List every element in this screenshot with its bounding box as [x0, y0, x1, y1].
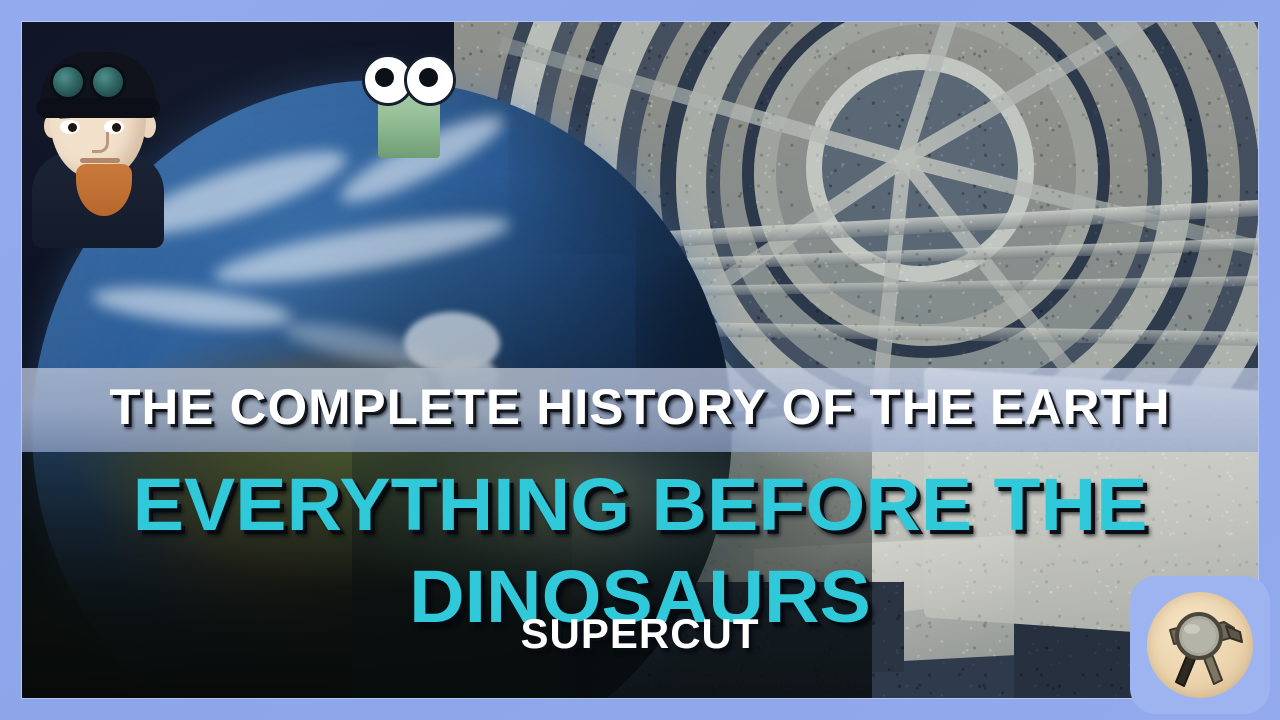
cloud — [211, 204, 513, 295]
structure-ring-core — [806, 54, 1034, 282]
cloud — [91, 280, 293, 335]
goggle-icon — [50, 64, 86, 100]
structure-spoke — [900, 22, 1258, 166]
channel-logo[interactable] — [1130, 576, 1270, 714]
subtitle: SUPERCUT — [22, 610, 1258, 658]
avatar-pupil — [68, 123, 77, 132]
avatar-pupil — [112, 123, 121, 132]
magnifying-glass-rock-hammer-icon — [1130, 576, 1270, 714]
title-line-1: THE COMPLETE HISTORY OF THE EARTH — [22, 378, 1258, 436]
title-line-2: EVERYTHING BEFORE THE — [22, 462, 1258, 547]
structure-ring — [754, 22, 1098, 346]
mascot-pupil — [419, 68, 438, 87]
goggle-icon — [90, 64, 126, 100]
youtube-thumbnail: THE COMPLETE HISTORY OF THE EARTH EVERYT… — [0, 0, 1280, 720]
avatar-mouth — [80, 158, 120, 163]
structure-spoke — [902, 152, 1258, 268]
avatar — [28, 40, 168, 240]
thumbnail-artwork: THE COMPLETE HISTORY OF THE EARTH EVERYT… — [22, 22, 1258, 698]
mascot-pupil — [375, 68, 394, 87]
mascot-googly-character — [362, 48, 454, 158]
structure-spoke — [897, 22, 1041, 162]
